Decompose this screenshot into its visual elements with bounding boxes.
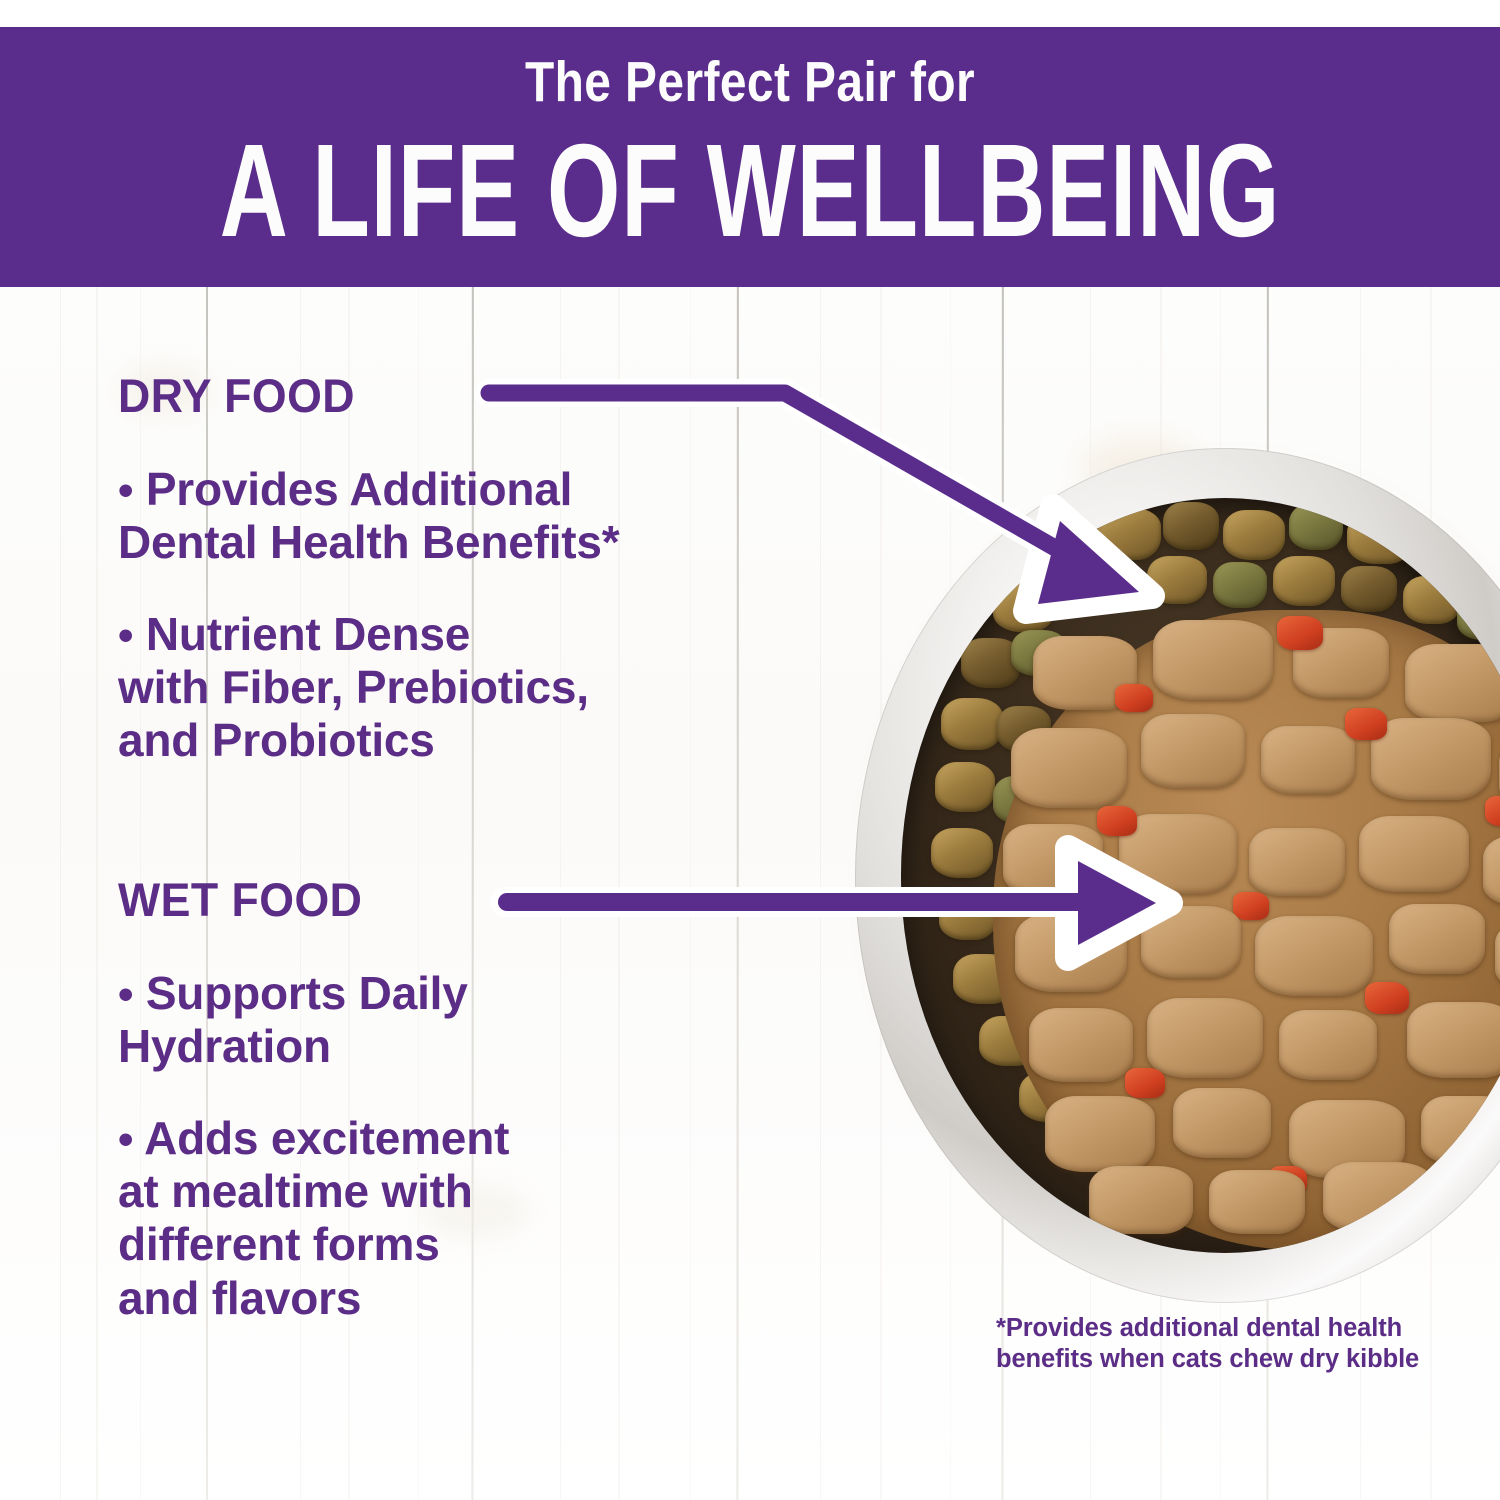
bullet-line: with Fiber, Prebiotics, bbox=[118, 661, 589, 713]
food-bowl-photo bbox=[855, 448, 1500, 1318]
footnote-line: *Provides additional dental health bbox=[996, 1313, 1426, 1344]
bullet-dot-icon: • bbox=[118, 466, 133, 515]
wet-food-section: WET FOOD • Supports Daily Hydration • Ad… bbox=[118, 872, 818, 1325]
wet-food-bullet-1: • Supports Daily Hydration bbox=[118, 967, 818, 1074]
wet-food-heading: WET FOOD bbox=[118, 872, 783, 927]
bullet-line: and Probiotics bbox=[118, 714, 435, 766]
bullet-line: at mealtime with bbox=[118, 1165, 473, 1217]
bowl-rim bbox=[855, 448, 1500, 1303]
bullet-line: Hydration bbox=[118, 1020, 331, 1072]
page-title: A LIFE OF WELLBEING bbox=[150, 115, 1350, 267]
header-kicker: The Perfect Pair for bbox=[120, 49, 1380, 115]
wet-food-gravy bbox=[993, 610, 1500, 1250]
bullet-line: Provides Additional bbox=[146, 463, 572, 515]
bullet-line: Dental Health Benefits* bbox=[118, 516, 620, 568]
dry-food-bullet-2: • Nutrient Dense with Fiber, Prebiotics,… bbox=[118, 608, 818, 768]
bullet-dot-icon: • bbox=[118, 611, 133, 660]
bullet-line: Adds excitement bbox=[144, 1112, 509, 1164]
footnote-line: benefits when cats chew dry kibble bbox=[996, 1344, 1426, 1375]
bullet-line: and flavors bbox=[118, 1272, 361, 1324]
promo-graphic: The Perfect Pair for A LIFE OF WELLBEING bbox=[0, 0, 1500, 1500]
footnote: *Provides additional dental health benef… bbox=[996, 1313, 1426, 1375]
dry-food-section: DRY FOOD • Provides Additional Dental He… bbox=[118, 368, 818, 768]
bullet-dot-icon: • bbox=[118, 970, 133, 1019]
dry-food-bullet-1: • Provides Additional Dental Health Bene… bbox=[118, 463, 818, 570]
bullet-line: Supports Daily bbox=[146, 967, 468, 1019]
bullet-line: Nutrient Dense bbox=[146, 608, 470, 660]
bowl-interior bbox=[901, 498, 1500, 1253]
header-band: The Perfect Pair for A LIFE OF WELLBEING bbox=[0, 27, 1500, 287]
dry-food-heading: DRY FOOD bbox=[118, 368, 783, 423]
bullet-dot-icon: • bbox=[118, 1115, 133, 1164]
bullet-line: different forms bbox=[118, 1218, 440, 1270]
wet-food-bullet-2: • Adds excitement at mealtime with diffe… bbox=[118, 1112, 818, 1325]
